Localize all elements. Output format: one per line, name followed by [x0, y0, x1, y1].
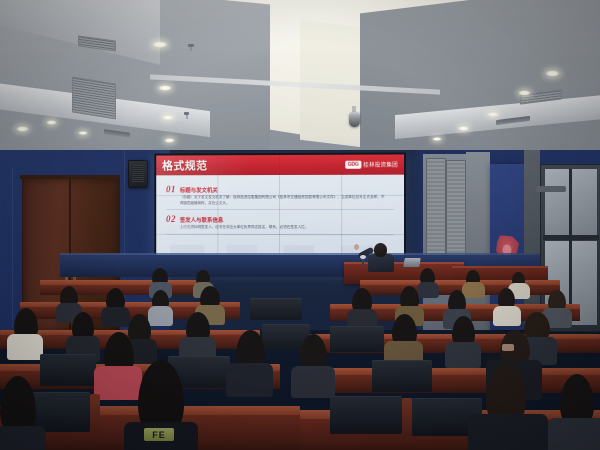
- section-heading: 标题与发文机关: [180, 186, 218, 194]
- photo-scene: 格式规范 GDG 桂林投资集团 01 标题与发文机关 （标题）关于发文发文机关了…: [0, 0, 600, 450]
- attendee-torso: [226, 363, 273, 397]
- slide-logo: GDG 桂林投资集团: [345, 161, 398, 169]
- downlight-icon: [458, 126, 469, 131]
- wall-speaker-icon: [128, 160, 148, 188]
- jacket-text: FE: [144, 428, 174, 441]
- presenter-head: [374, 243, 387, 257]
- attendee-torso: [468, 414, 548, 450]
- downlight-icon: [16, 126, 29, 132]
- attendee-torso: [7, 334, 43, 360]
- ceiling: [0, 0, 600, 165]
- seat-back: [330, 396, 402, 434]
- section-text: 上行文须标明签发人，应写在本应大单位负责同志姓名，联系、必须在签发人栏。: [180, 225, 385, 231]
- ceiling-right-slab: [360, 0, 600, 165]
- attendee-torso: [94, 366, 142, 400]
- seat-back: [372, 360, 432, 392]
- sprinkler-icon: [188, 44, 194, 47]
- seat-frame: [402, 398, 412, 436]
- attendee-torso: [462, 282, 485, 298]
- downlight-icon: [78, 131, 88, 135]
- attendee-torso: [101, 307, 130, 327]
- downlight-icon: [164, 138, 175, 143]
- logo-text: 桂林投资集团: [363, 161, 398, 169]
- section-number: 01: [166, 184, 176, 194]
- seat-back: [40, 354, 96, 386]
- attendee-torso: [148, 306, 173, 326]
- downlight-icon: [487, 112, 499, 117]
- logo-mark: GDG: [345, 161, 361, 169]
- downlight-icon: [158, 85, 172, 91]
- laptop-icon: [403, 258, 421, 267]
- downlight-icon: [152, 41, 168, 48]
- downlight-icon: [432, 137, 442, 141]
- attendee-torso: [493, 306, 521, 326]
- attendee-torso: [548, 418, 600, 450]
- sprinkler-icon: [184, 112, 189, 115]
- downlight-icon: [162, 115, 174, 120]
- seat-back: [330, 326, 384, 352]
- desk-row-face: [300, 375, 600, 393]
- seat-frame: [90, 394, 100, 434]
- section-number: 02: [166, 214, 176, 224]
- slide-title-bar: 格式规范 GDG 桂林投资集团: [156, 154, 404, 175]
- downlight-icon: [46, 120, 57, 125]
- audience-seating: FE: [0, 268, 600, 450]
- seat-back: [250, 298, 302, 320]
- ceiling-camera-icon: [349, 112, 360, 127]
- presenter-hand: [354, 244, 359, 250]
- attendee-torso: [417, 282, 439, 298]
- hvac-grille-icon: [72, 77, 116, 120]
- downlight-icon: [545, 70, 560, 77]
- section-text: （标题）关于发文发文机关了解：桂林投资控股集团有限公司《桂林市交通投资控股有限公…: [180, 195, 385, 206]
- microphone-icon: [362, 258, 364, 267]
- attendee-torso: [0, 426, 46, 450]
- window-head-trim: [536, 186, 566, 192]
- slide-title: 格式规范: [162, 157, 207, 173]
- attendee-torso: [291, 366, 335, 398]
- attendee-torso: [445, 342, 481, 368]
- desk-row: [300, 368, 600, 375]
- attendee-face: [502, 344, 514, 351]
- downlight-icon: [518, 90, 531, 96]
